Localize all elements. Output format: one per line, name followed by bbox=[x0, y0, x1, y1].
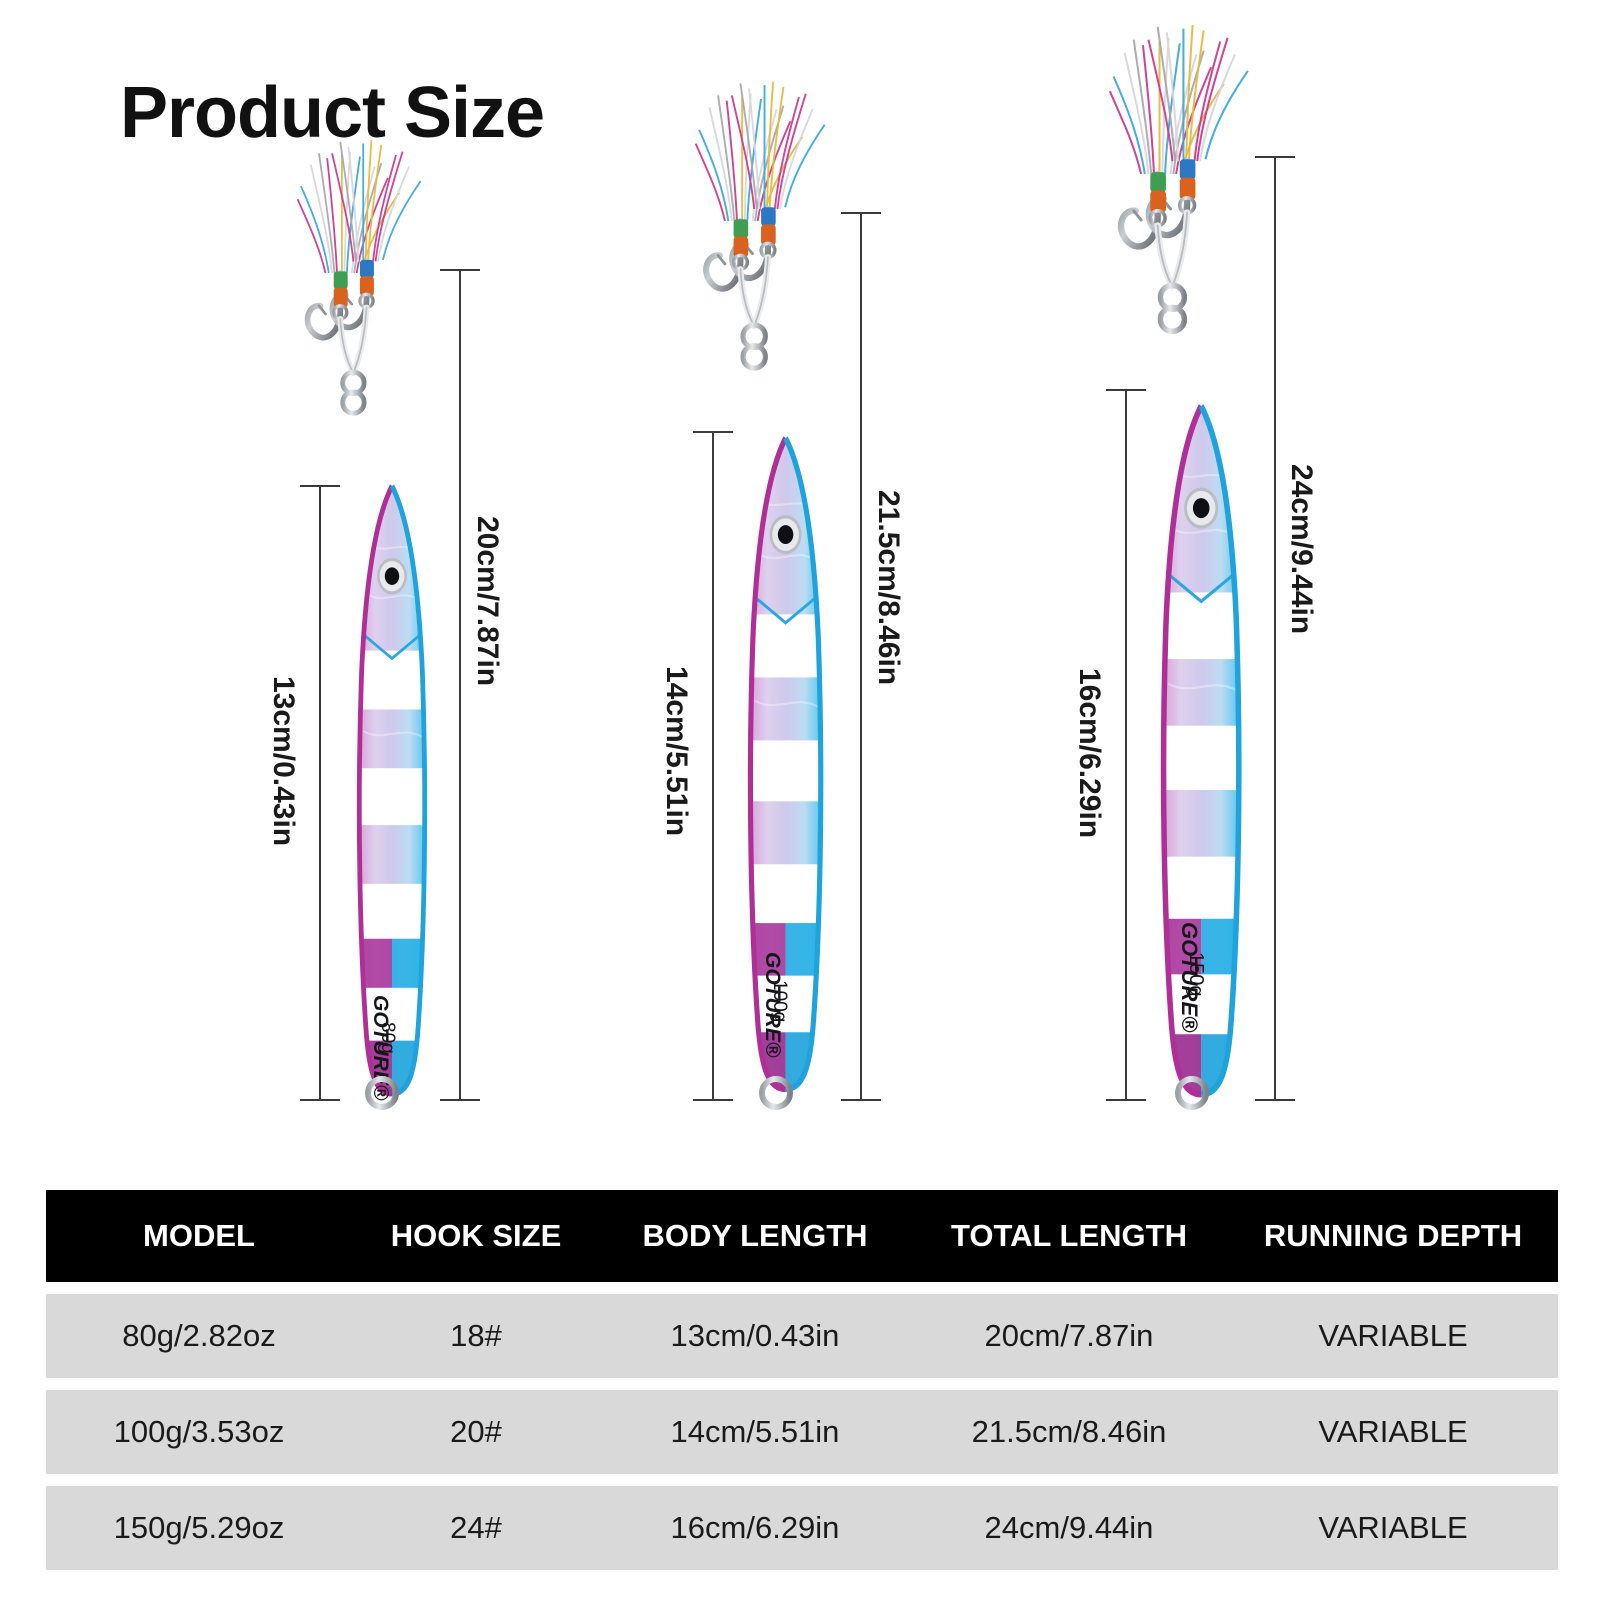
lure-weight-mark-80g: 80g bbox=[377, 1022, 398, 1054]
cell-running-depth: VARIABLE bbox=[1228, 1318, 1558, 1354]
cell-hook-size: 18# bbox=[352, 1318, 600, 1354]
cell-total-length: 24cm/9.44in bbox=[910, 1510, 1228, 1546]
cell-model: 150g/5.29oz bbox=[46, 1510, 352, 1546]
table-row: 80g/2.82oz 18# 13cm/0.43in 20cm/7.87in V… bbox=[46, 1294, 1558, 1378]
total-length-label-80g: 20cm/7.87in bbox=[470, 516, 504, 686]
lures-illustration: GOTURE® 80g bbox=[0, 0, 1600, 1180]
cell-body-length: 16cm/6.29in bbox=[600, 1510, 910, 1546]
lure-150g: GOTURE® 150g bbox=[1110, 25, 1257, 1107]
cell-total-length: 20cm/7.87in bbox=[910, 1318, 1228, 1354]
lure-weight-mark-150g: 150g bbox=[1185, 952, 1207, 997]
column-header-model: MODEL bbox=[46, 1218, 352, 1254]
column-header-body-length: BODY LENGTH bbox=[600, 1218, 910, 1254]
lure-80g: GOTURE® 80g bbox=[298, 140, 440, 1107]
column-header-running-depth: RUNNING DEPTH bbox=[1228, 1218, 1558, 1254]
cell-body-length: 13cm/0.43in bbox=[600, 1318, 910, 1354]
body-length-label-100g: 14cm/5.51in bbox=[659, 666, 693, 836]
spec-table: MODEL HOOK SIZE BODY LENGTH TOTAL LENGTH… bbox=[46, 1190, 1558, 1570]
cell-body-length: 14cm/5.51in bbox=[600, 1414, 910, 1450]
cell-model: 80g/2.82oz bbox=[46, 1318, 352, 1354]
column-header-hook-size: HOOK SIZE bbox=[352, 1218, 600, 1254]
total-length-label-100g: 21.5cm/8.46in bbox=[871, 490, 905, 685]
cell-hook-size: 20# bbox=[352, 1414, 600, 1450]
lure-100g: GOTURE® 100g bbox=[696, 82, 837, 1107]
cell-running-depth: VARIABLE bbox=[1228, 1414, 1558, 1450]
cell-hook-size: 24# bbox=[352, 1510, 600, 1546]
body-length-label-150g: 16cm/6.29in bbox=[1072, 668, 1106, 838]
cell-running-depth: VARIABLE bbox=[1228, 1510, 1558, 1546]
column-header-total-length: TOTAL LENGTH bbox=[910, 1218, 1228, 1254]
table-row: 100g/3.53oz 20# 14cm/5.51in 21.5cm/8.46i… bbox=[46, 1390, 1558, 1474]
lure-weight-mark-100g: 100g bbox=[769, 980, 790, 1022]
body-length-label-80g: 13cm/0.43in bbox=[266, 676, 300, 846]
table-header-row: MODEL HOOK SIZE BODY LENGTH TOTAL LENGTH… bbox=[46, 1190, 1558, 1282]
total-length-label-150g: 24cm/9.44in bbox=[1284, 464, 1318, 634]
cell-model: 100g/3.53oz bbox=[46, 1414, 352, 1450]
cell-total-length: 21.5cm/8.46in bbox=[910, 1414, 1228, 1450]
table-row: 150g/5.29oz 24# 16cm/6.29in 24cm/9.44in … bbox=[46, 1486, 1558, 1570]
product-size-infographic: Product Size bbox=[0, 0, 1600, 1600]
